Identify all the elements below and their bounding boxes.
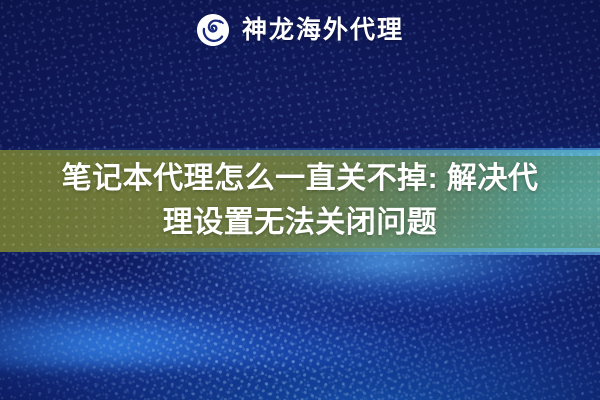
brand-header: 神龙海外代理 [0,0,600,60]
spiral-dragon-circle-icon [196,13,230,47]
brand-name: 神龙海外代理 [242,18,404,43]
title-line-1: 笔记本代理怎么一直关不掉: 解决代 [62,157,539,201]
page-title: 笔记本代理怎么一直关不掉: 解决代 理设置无法关闭问题 [0,150,600,252]
title-line-2: 理设置无法关闭问题 [163,201,438,245]
banner-image: 神龙海外代理 笔记本代理怎么一直关不掉: 解决代 理设置无法关闭问题 [0,0,600,400]
